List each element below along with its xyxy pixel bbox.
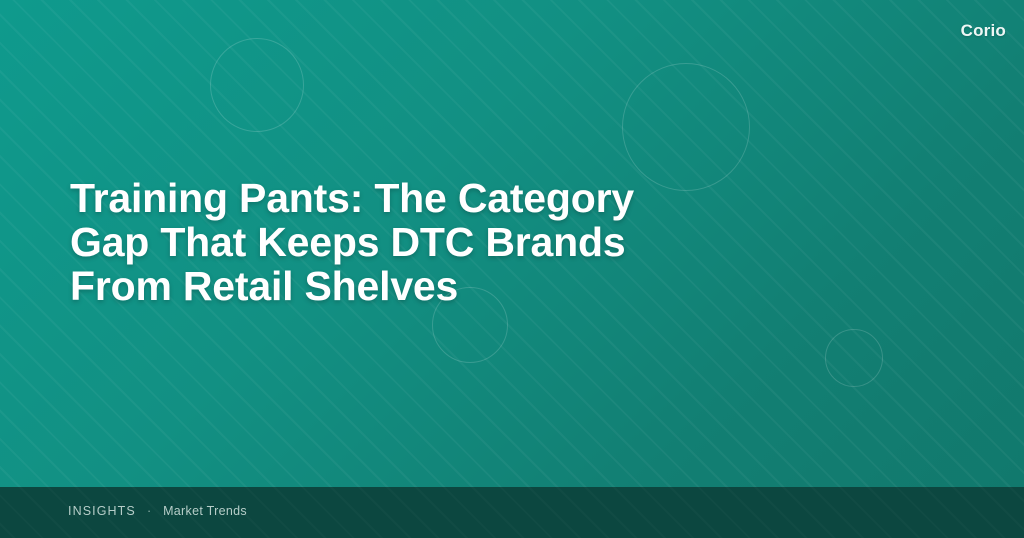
footer-separator: · [147, 504, 152, 518]
footer-kicker: INSIGHTS [68, 504, 136, 518]
brand-logo: Corio [961, 21, 1006, 41]
page-title: Training Pants: The Category Gap That Ke… [70, 176, 710, 308]
footer-topic: Market Trends [163, 504, 247, 518]
footer-text: INSIGHTS · Market Trends [68, 504, 247, 518]
decor-circle-bottom-right [825, 329, 883, 387]
title-slide: Corio Training Pants: The Category Gap T… [0, 0, 1024, 538]
decor-circle-top-right [622, 63, 750, 191]
decor-circle-top-left [210, 38, 304, 132]
footer-bar: INSIGHTS · Market Trends [0, 487, 1024, 538]
